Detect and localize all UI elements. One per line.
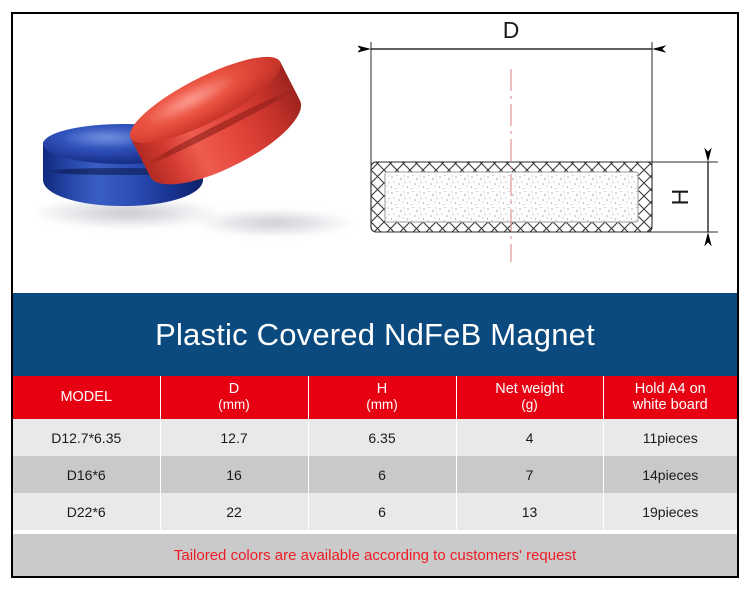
cell-hold: 14pieces	[603, 456, 737, 493]
cell-model: D16*6	[13, 456, 160, 493]
table-row: D22*6 22 6 13 19pieces	[13, 493, 737, 530]
red-magnet	[120, 40, 350, 270]
height-label: H	[667, 189, 693, 206]
cell-weight: 7	[456, 456, 603, 493]
column-header-net-weight: Net weight (g)	[456, 376, 603, 419]
table-row: D16*6 16 6 7 14pieces	[13, 456, 737, 493]
footer-note: Tailored colors are available according …	[13, 534, 737, 576]
column-header-height: H (mm)	[308, 376, 456, 419]
header-unit: (mm)	[309, 398, 456, 413]
column-header-model: MODEL	[13, 376, 160, 419]
cell-d: 16	[160, 456, 308, 493]
cell-d: 22	[160, 493, 308, 530]
product-spec-sheet: D H Plastic Covered NdFeB Magnet	[11, 12, 739, 578]
header-unit: white board	[604, 398, 738, 414]
cell-weight: 4	[456, 419, 603, 456]
cell-hold: 11pieces	[603, 419, 737, 456]
cell-model: D12.7*6.35	[13, 419, 160, 456]
header-name: MODEL	[13, 390, 160, 406]
cell-h: 6	[308, 493, 456, 530]
cell-model: D22*6	[13, 493, 160, 530]
cell-d: 12.7	[160, 419, 308, 456]
cell-h: 6	[308, 456, 456, 493]
title-banner: Plastic Covered NdFeB Magnet	[13, 293, 737, 376]
page-title: Plastic Covered NdFeB Magnet	[155, 317, 595, 353]
header-name: Hold A4 on	[604, 382, 738, 398]
header-name: D	[161, 382, 308, 398]
specification-table: MODEL D (mm) H (mm) Net weight (g) Hold …	[13, 376, 737, 530]
table-header-row: MODEL D (mm) H (mm) Net weight (g) Hold …	[13, 376, 737, 419]
table-row: D12.7*6.35 12.7 6.35 4 11pieces	[13, 419, 737, 456]
cell-h: 6.35	[308, 419, 456, 456]
diameter-label: D	[503, 17, 520, 43]
header-unit: (mm)	[161, 398, 308, 413]
column-header-hold-a4: Hold A4 on white board	[603, 376, 737, 419]
visual-area: D H	[13, 14, 737, 293]
column-header-diameter: D (mm)	[160, 376, 308, 419]
product-photo	[13, 14, 358, 293]
cell-hold: 19pieces	[603, 493, 737, 530]
cell-weight: 13	[456, 493, 603, 530]
cross-section-svg: D H	[358, 14, 741, 293]
header-name: Net weight	[457, 382, 603, 398]
technical-drawing: D H	[358, 14, 741, 293]
header-unit: (g)	[457, 398, 603, 413]
footer-note-text: Tailored colors are available according …	[174, 547, 576, 564]
header-name: H	[309, 382, 456, 398]
